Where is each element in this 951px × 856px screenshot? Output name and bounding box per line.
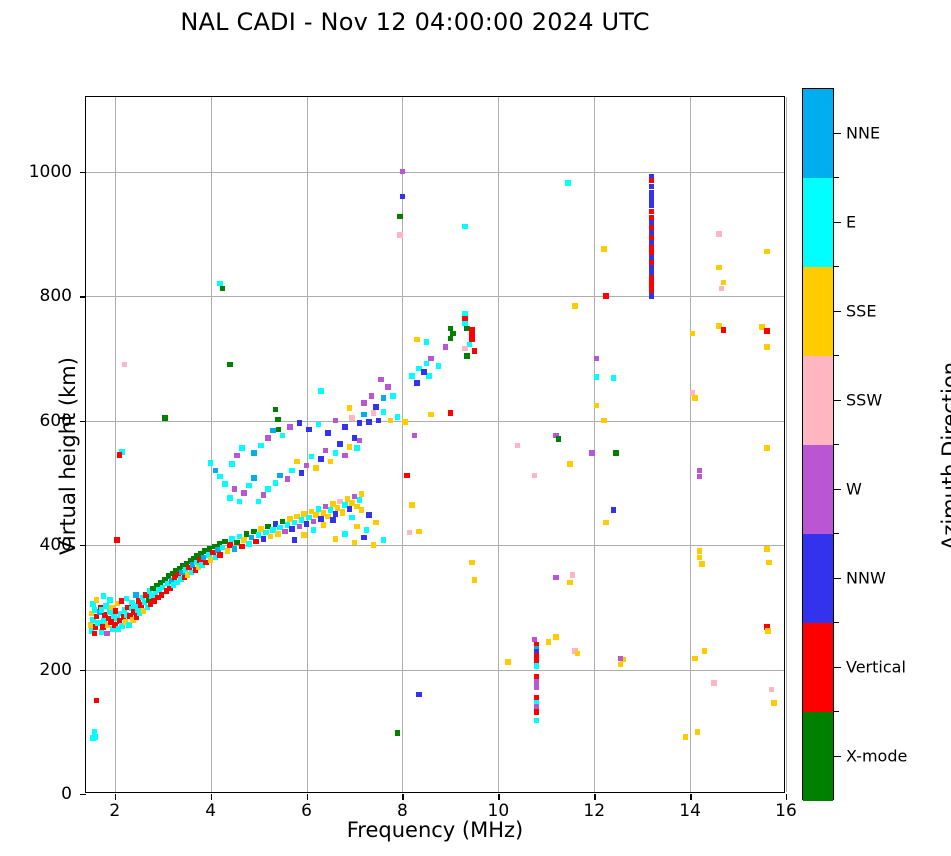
data-point — [567, 461, 573, 467]
colorbar-tick — [834, 489, 841, 490]
colorbar-tick — [834, 311, 841, 312]
data-point — [601, 246, 607, 252]
data-point — [697, 548, 703, 554]
data-point — [273, 407, 279, 413]
data-point — [611, 375, 617, 381]
data-point — [467, 342, 473, 348]
x-axis-title: Frequency (MHz) — [85, 818, 785, 842]
data-point — [613, 450, 619, 456]
data-point — [469, 560, 475, 566]
data-point — [287, 424, 293, 430]
data-point — [117, 452, 123, 458]
data-point — [366, 419, 372, 425]
data-point — [373, 404, 379, 410]
data-point — [304, 521, 310, 527]
data-point — [292, 537, 298, 543]
data-point — [222, 481, 228, 487]
data-point — [532, 473, 538, 479]
data-point — [342, 453, 348, 459]
data-point — [94, 597, 100, 603]
data-point — [361, 400, 367, 406]
data-point — [649, 190, 655, 196]
data-point — [313, 465, 319, 471]
data-point — [699, 561, 705, 567]
data-point — [462, 224, 468, 230]
data-point — [409, 373, 415, 379]
data-point — [126, 622, 132, 628]
colorbar-boundary-tick — [834, 355, 839, 356]
data-point — [328, 459, 334, 465]
data-point — [256, 499, 262, 505]
data-point — [122, 362, 128, 368]
data-point — [575, 651, 581, 657]
data-point — [99, 629, 105, 635]
data-point — [333, 511, 339, 517]
y-tick — [80, 296, 86, 297]
data-point — [534, 684, 540, 690]
data-point — [92, 729, 98, 735]
data-point — [692, 656, 698, 662]
data-point — [251, 450, 257, 456]
data-point — [359, 507, 365, 513]
data-point — [567, 580, 573, 586]
data-point — [505, 659, 511, 665]
data-point — [337, 441, 343, 447]
data-point — [532, 637, 538, 643]
data-point — [764, 328, 770, 334]
data-point — [361, 535, 367, 541]
colorbar-tick — [834, 756, 841, 757]
data-point — [275, 531, 281, 537]
data-point — [265, 435, 271, 441]
data-point — [716, 231, 722, 237]
data-point — [261, 536, 267, 542]
data-point — [352, 540, 358, 546]
y-tick-label: 1000 — [29, 162, 72, 182]
data-point — [309, 454, 315, 460]
data-point — [611, 507, 617, 513]
y-tick — [80, 421, 86, 422]
data-point — [371, 542, 377, 548]
data-point — [318, 516, 324, 522]
data-point — [381, 537, 387, 543]
data-point — [297, 420, 303, 426]
colorbar-boundary-tick — [834, 711, 839, 712]
data-point — [239, 544, 245, 550]
data-point — [683, 734, 689, 740]
data-point — [601, 418, 607, 424]
data-point — [101, 593, 107, 599]
colorbar-boundary-tick — [834, 622, 839, 623]
colorbar-tick — [834, 667, 841, 668]
x-tick — [307, 794, 308, 800]
data-point — [649, 184, 655, 190]
gridline-vertical — [786, 97, 787, 792]
plot-area: 24681012141602004006008001000 — [85, 96, 785, 793]
colorbar-tick — [834, 133, 841, 134]
colorbar-label-sse: SSE — [846, 301, 876, 320]
data-point — [402, 419, 408, 425]
colorbar-tick — [834, 222, 841, 223]
x-tick — [498, 794, 499, 800]
data-point — [342, 531, 348, 537]
data-point — [697, 468, 703, 474]
data-point — [318, 456, 324, 462]
y-tick — [80, 794, 86, 795]
colorbar-label-nnw: NNW — [846, 568, 886, 587]
page-title: NAL CADI - Nov 12 04:00:00 2024 UTC — [0, 8, 830, 36]
colorbar-boundary-tick — [834, 444, 839, 445]
data-point — [225, 548, 231, 554]
data-point — [299, 470, 305, 476]
data-point — [246, 483, 252, 489]
data-point — [649, 293, 655, 299]
data-point — [534, 663, 540, 669]
data-point — [361, 412, 367, 418]
data-point — [570, 572, 576, 578]
data-point — [690, 331, 696, 337]
data-point — [603, 293, 609, 299]
colorbar-tick — [834, 400, 841, 401]
data-point — [407, 530, 413, 536]
data-point — [234, 453, 240, 459]
data-point — [162, 415, 168, 421]
data-point — [273, 480, 279, 486]
colorbar-segment-e — [803, 178, 833, 267]
data-point — [232, 486, 238, 492]
data-point — [306, 427, 312, 433]
data-point — [280, 433, 286, 439]
x-tick — [594, 794, 595, 800]
data-point — [764, 445, 770, 451]
data-point — [534, 709, 540, 715]
data-point — [400, 169, 406, 175]
data-point — [414, 380, 420, 386]
data-point — [472, 348, 478, 354]
data-point — [594, 356, 600, 362]
data-point — [347, 444, 353, 450]
data-point — [388, 418, 394, 424]
data-point — [448, 410, 454, 416]
data-point — [253, 539, 259, 545]
data-point — [404, 473, 410, 479]
colorbar-segment-sse — [803, 267, 833, 356]
data-point — [349, 515, 355, 521]
y-tick — [80, 172, 86, 173]
y-axis-title: Virtual height (km) — [56, 326, 80, 586]
data-point — [376, 418, 382, 424]
data-point — [227, 362, 233, 368]
data-point — [270, 428, 276, 434]
data-point — [381, 409, 387, 415]
data-point — [721, 280, 727, 286]
data-point — [397, 214, 403, 220]
data-point — [103, 603, 109, 609]
colorbar-boundary-tick — [834, 533, 839, 534]
colorbar-boundary-tick — [834, 177, 839, 178]
data-point — [364, 527, 370, 533]
data-point — [697, 555, 703, 561]
data-point — [424, 361, 430, 367]
data-point — [265, 486, 271, 492]
y-tick-label: 800 — [40, 286, 72, 306]
data-point — [553, 634, 559, 640]
data-point — [275, 417, 281, 423]
data-point — [93, 734, 99, 740]
x-tick — [786, 794, 787, 800]
data-point — [515, 443, 521, 449]
data-point — [261, 492, 267, 498]
data-point — [347, 405, 353, 411]
data-point — [462, 346, 468, 352]
colorbar-segment-nnw — [803, 534, 833, 623]
data-point — [239, 445, 245, 451]
data-point — [333, 450, 339, 456]
data-point — [572, 303, 578, 309]
data-point — [448, 336, 454, 342]
data-point — [232, 546, 238, 552]
data-point — [424, 339, 430, 345]
y-tick — [80, 670, 86, 671]
colorbar-label-e: E — [846, 212, 856, 231]
data-point — [246, 541, 252, 547]
data-point — [766, 560, 772, 566]
data-point — [426, 373, 432, 379]
colorbar-segment-ssw — [803, 356, 833, 445]
data-point — [229, 461, 235, 467]
y-tick — [80, 545, 86, 546]
data-point — [208, 460, 214, 466]
data-point — [289, 526, 295, 532]
colorbar-segment-x-mode — [803, 712, 833, 801]
data-point — [258, 443, 264, 449]
data-point — [311, 527, 317, 533]
colorbar-segment-w — [803, 445, 833, 534]
data-point — [765, 628, 771, 634]
data-point — [649, 196, 655, 202]
data-point — [649, 209, 655, 215]
data-point — [133, 592, 139, 598]
data-point — [333, 418, 339, 424]
data-point — [340, 510, 346, 516]
data-point — [347, 506, 353, 512]
data-point — [421, 369, 427, 375]
colorbar-label-ssw: SSW — [846, 390, 882, 409]
data-point — [220, 286, 226, 292]
data-point — [114, 537, 120, 543]
data-point — [464, 353, 470, 359]
data-point — [764, 344, 770, 350]
data-point — [354, 445, 360, 451]
data-point — [213, 468, 219, 474]
data-point — [618, 656, 624, 662]
colorbar-label-vertical: Vertical — [846, 657, 906, 676]
colorbar-label-w: W — [846, 479, 862, 498]
colorbar-label-x-mode: X-mode — [846, 746, 907, 765]
data-point — [277, 473, 283, 479]
data-point — [556, 436, 562, 442]
data-point — [472, 577, 478, 583]
data-point — [395, 414, 401, 420]
data-point — [357, 497, 363, 503]
x-tick — [402, 794, 403, 800]
data-point — [416, 529, 422, 535]
data-point — [285, 476, 291, 482]
data-point — [330, 517, 336, 523]
data-point — [94, 698, 100, 704]
data-point — [594, 374, 600, 380]
colorbar-tick — [834, 578, 841, 579]
colorbar-label-nne: NNE — [846, 123, 880, 142]
x-tick — [211, 794, 212, 800]
data-point — [357, 420, 363, 426]
ionogram-figure: NAL CADI - Nov 12 04:00:00 2024 UTC 2468… — [0, 0, 951, 856]
colorbar-segment-nne — [803, 89, 833, 178]
data-point — [692, 395, 698, 401]
data-point — [251, 475, 257, 481]
colorbar — [802, 88, 834, 800]
data-point — [428, 412, 434, 418]
data-point — [237, 499, 243, 505]
data-point — [359, 491, 365, 497]
data-point — [716, 265, 722, 271]
data-point — [311, 519, 317, 525]
data-point — [546, 639, 552, 645]
data-point — [443, 344, 449, 350]
data-point — [297, 524, 303, 530]
data-point — [378, 377, 384, 383]
data-point — [436, 363, 442, 369]
x-tick — [115, 794, 116, 800]
data-point — [409, 502, 415, 508]
data-point — [381, 395, 387, 401]
data-point — [649, 202, 655, 208]
data-point — [268, 534, 274, 540]
data-point — [764, 546, 770, 552]
data-point — [241, 490, 247, 496]
data-point — [594, 403, 600, 409]
data-point — [227, 495, 233, 501]
data-point — [769, 687, 775, 693]
data-point — [323, 448, 329, 454]
data-point — [107, 597, 113, 603]
data-point — [390, 393, 396, 399]
data-point — [589, 450, 595, 456]
data-point — [695, 729, 701, 735]
data-point — [294, 459, 300, 465]
data-point — [325, 430, 331, 436]
data-point — [276, 427, 282, 433]
data-point — [711, 680, 717, 686]
data-point — [414, 337, 420, 343]
scatter-points — [86, 97, 784, 792]
data-point — [603, 520, 609, 526]
data-point — [373, 520, 379, 526]
data-point — [416, 692, 422, 698]
y-tick-label: 0 — [61, 784, 72, 804]
data-point — [553, 575, 559, 581]
data-point — [428, 356, 434, 362]
data-point — [649, 178, 655, 184]
data-point — [357, 438, 363, 444]
data-point — [721, 327, 727, 333]
data-point — [719, 286, 725, 292]
x-tick — [690, 794, 691, 800]
colorbar-boundary-tick — [834, 266, 839, 267]
data-point — [354, 524, 360, 530]
data-point — [697, 474, 703, 480]
y-tick-label: 200 — [40, 660, 72, 680]
data-point — [400, 194, 406, 200]
data-point — [534, 718, 540, 724]
data-point — [349, 415, 355, 421]
data-point — [92, 631, 98, 637]
data-point — [217, 552, 223, 558]
data-point — [618, 662, 624, 668]
data-point — [412, 433, 418, 439]
data-point — [301, 532, 307, 538]
colorbar-segment-vertical — [803, 623, 833, 712]
data-point — [217, 474, 223, 480]
data-point — [289, 468, 295, 474]
data-point — [369, 393, 375, 399]
data-point — [304, 463, 310, 469]
data-point — [395, 730, 401, 736]
data-point — [565, 180, 571, 186]
data-point — [371, 410, 377, 416]
data-point — [702, 648, 708, 654]
data-point — [282, 529, 288, 535]
data-point — [316, 422, 322, 428]
data-point — [342, 424, 348, 430]
data-point — [318, 388, 324, 394]
data-point — [397, 232, 403, 238]
colorbar-title: Azimuth Direction — [938, 306, 951, 606]
data-point — [321, 522, 327, 528]
data-point — [366, 512, 372, 518]
data-point — [333, 536, 339, 542]
data-point — [771, 700, 777, 706]
data-point — [764, 249, 770, 255]
data-point — [385, 384, 391, 390]
data-point — [124, 596, 130, 602]
